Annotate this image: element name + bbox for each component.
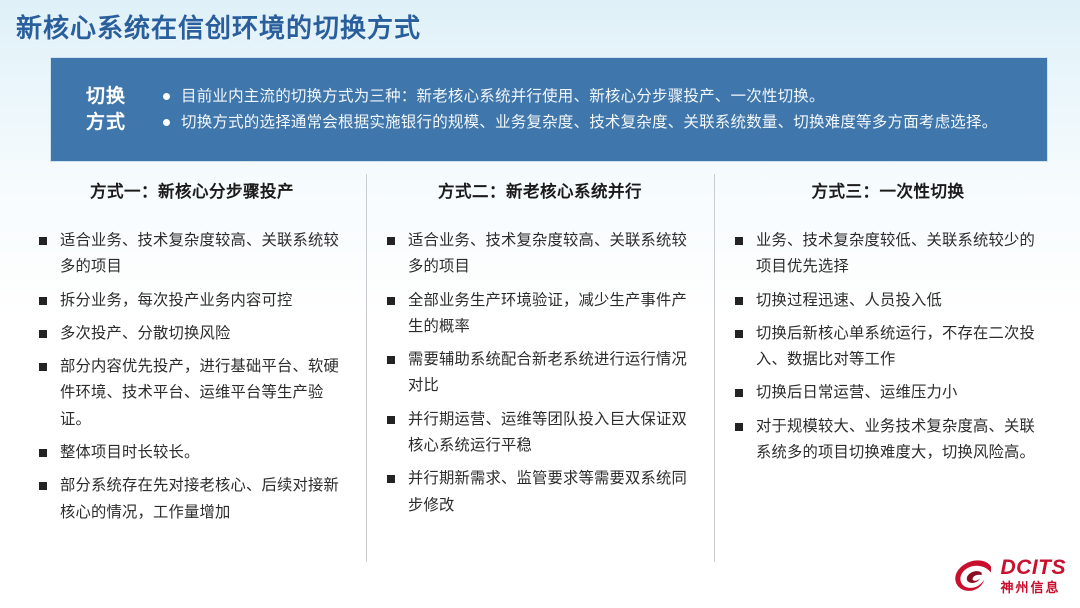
- list-item: 多次投产、分散切换风险: [34, 321, 350, 347]
- list-item: 切换后新核心单系统运行，不存在二次投入、数据比对等工作: [730, 321, 1046, 374]
- company-logo: DCITS 神州信息: [953, 557, 1067, 594]
- summary-banner: 切换 方式 目前业内主流的切换方式为三种：新老核心系统并行使用、新核心分步骤投产…: [50, 57, 1048, 162]
- list-item: 需要辅助系统配合新老系统进行运行情况对比: [382, 347, 698, 400]
- list-item: 全部业务生产环境验证，减少生产事件产生的概率: [382, 288, 698, 341]
- banner-bullet-item: 目前业内主流的切换方式为三种：新老核心系统并行使用、新核心分步骤投产、一次性切换…: [161, 84, 1033, 109]
- banner-body: 目前业内主流的切换方式为三种：新老核心系统并行使用、新核心分步骤投产、一次性切换…: [161, 84, 1047, 134]
- column-heading: 方式一：新核心分步骤投产: [34, 178, 350, 202]
- list-item: 切换过程迅速、人员投入低: [730, 288, 1046, 314]
- column-heading: 方式三：一次性切换: [730, 178, 1046, 202]
- logo-brand-cn: 神州信息: [1001, 581, 1067, 594]
- dcits-swirl-icon: [953, 559, 995, 593]
- column-approach-1: 方式一：新核心分步骤投产 适合业务、技术复杂度较高、关联系统较多的项目 拆分业务…: [18, 178, 366, 570]
- list-item: 整体项目时长较长。: [34, 440, 350, 466]
- banner-label: 切换 方式: [51, 84, 161, 135]
- list-item: 对于规模较大、业务技术复杂度高、关联系统多的项目切换难度大，切换风险高。: [730, 414, 1046, 467]
- column-bullet-list: 适合业务、技术复杂度较高、关联系统较多的项目 全部业务生产环境验证，减少生产事件…: [382, 228, 698, 519]
- column-bullet-list: 业务、技术复杂度较低、关联系统较少的项目优先选择 切换过程迅速、人员投入低 切换…: [730, 228, 1046, 466]
- list-item: 适合业务、技术复杂度较高、关联系统较多的项目: [382, 228, 698, 281]
- comparison-columns: 方式一：新核心分步骤投产 适合业务、技术复杂度较高、关联系统较多的项目 拆分业务…: [18, 178, 1062, 570]
- list-item: 拆分业务，每次投产业务内容可控: [34, 288, 350, 314]
- logo-brand-en: DCITS: [1001, 557, 1067, 578]
- list-item: 部分内容优先投产，进行基础平台、软硬件环境、技术平台、运维平台等生产验证。: [34, 354, 350, 433]
- column-heading: 方式二：新老核心系统并行: [382, 178, 698, 202]
- column-approach-2: 方式二：新老核心系统并行 适合业务、技术复杂度较高、关联系统较多的项目 全部业务…: [366, 178, 714, 570]
- list-item: 业务、技术复杂度较低、关联系统较少的项目优先选择: [730, 228, 1046, 281]
- list-item: 适合业务、技术复杂度较高、关联系统较多的项目: [34, 228, 350, 281]
- list-item: 并行期运营、运维等团队投入巨大保证双核心系统运行平稳: [382, 407, 698, 460]
- list-item: 切换后日常运营、运维压力小: [730, 380, 1046, 406]
- page-title: 新核心系统在信创环境的切换方式: [16, 8, 421, 45]
- banner-label-line-1: 切换: [51, 84, 161, 110]
- column-bullet-list: 适合业务、技术复杂度较高、关联系统较多的项目 拆分业务，每次投产业务内容可控 多…: [34, 228, 350, 526]
- column-approach-3: 方式三：一次性切换 业务、技术复杂度较低、关联系统较少的项目优先选择 切换过程迅…: [714, 178, 1062, 570]
- logo-text: DCITS 神州信息: [1001, 557, 1067, 594]
- banner-label-line-2: 方式: [51, 110, 161, 136]
- banner-bullet-list: 目前业内主流的切换方式为三种：新老核心系统并行使用、新核心分步骤投产、一次性切换…: [161, 84, 1033, 134]
- list-item: 并行期新需求、监管要求等需要双系统同步修改: [382, 466, 698, 519]
- list-item: 部分系统存在先对接老核心、后续对接新核心的情况，工作量增加: [34, 473, 350, 526]
- banner-bullet-item: 切换方式的选择通常会根据实施银行的规模、业务复杂度、技术复杂度、关联系统数量、切…: [161, 110, 1033, 135]
